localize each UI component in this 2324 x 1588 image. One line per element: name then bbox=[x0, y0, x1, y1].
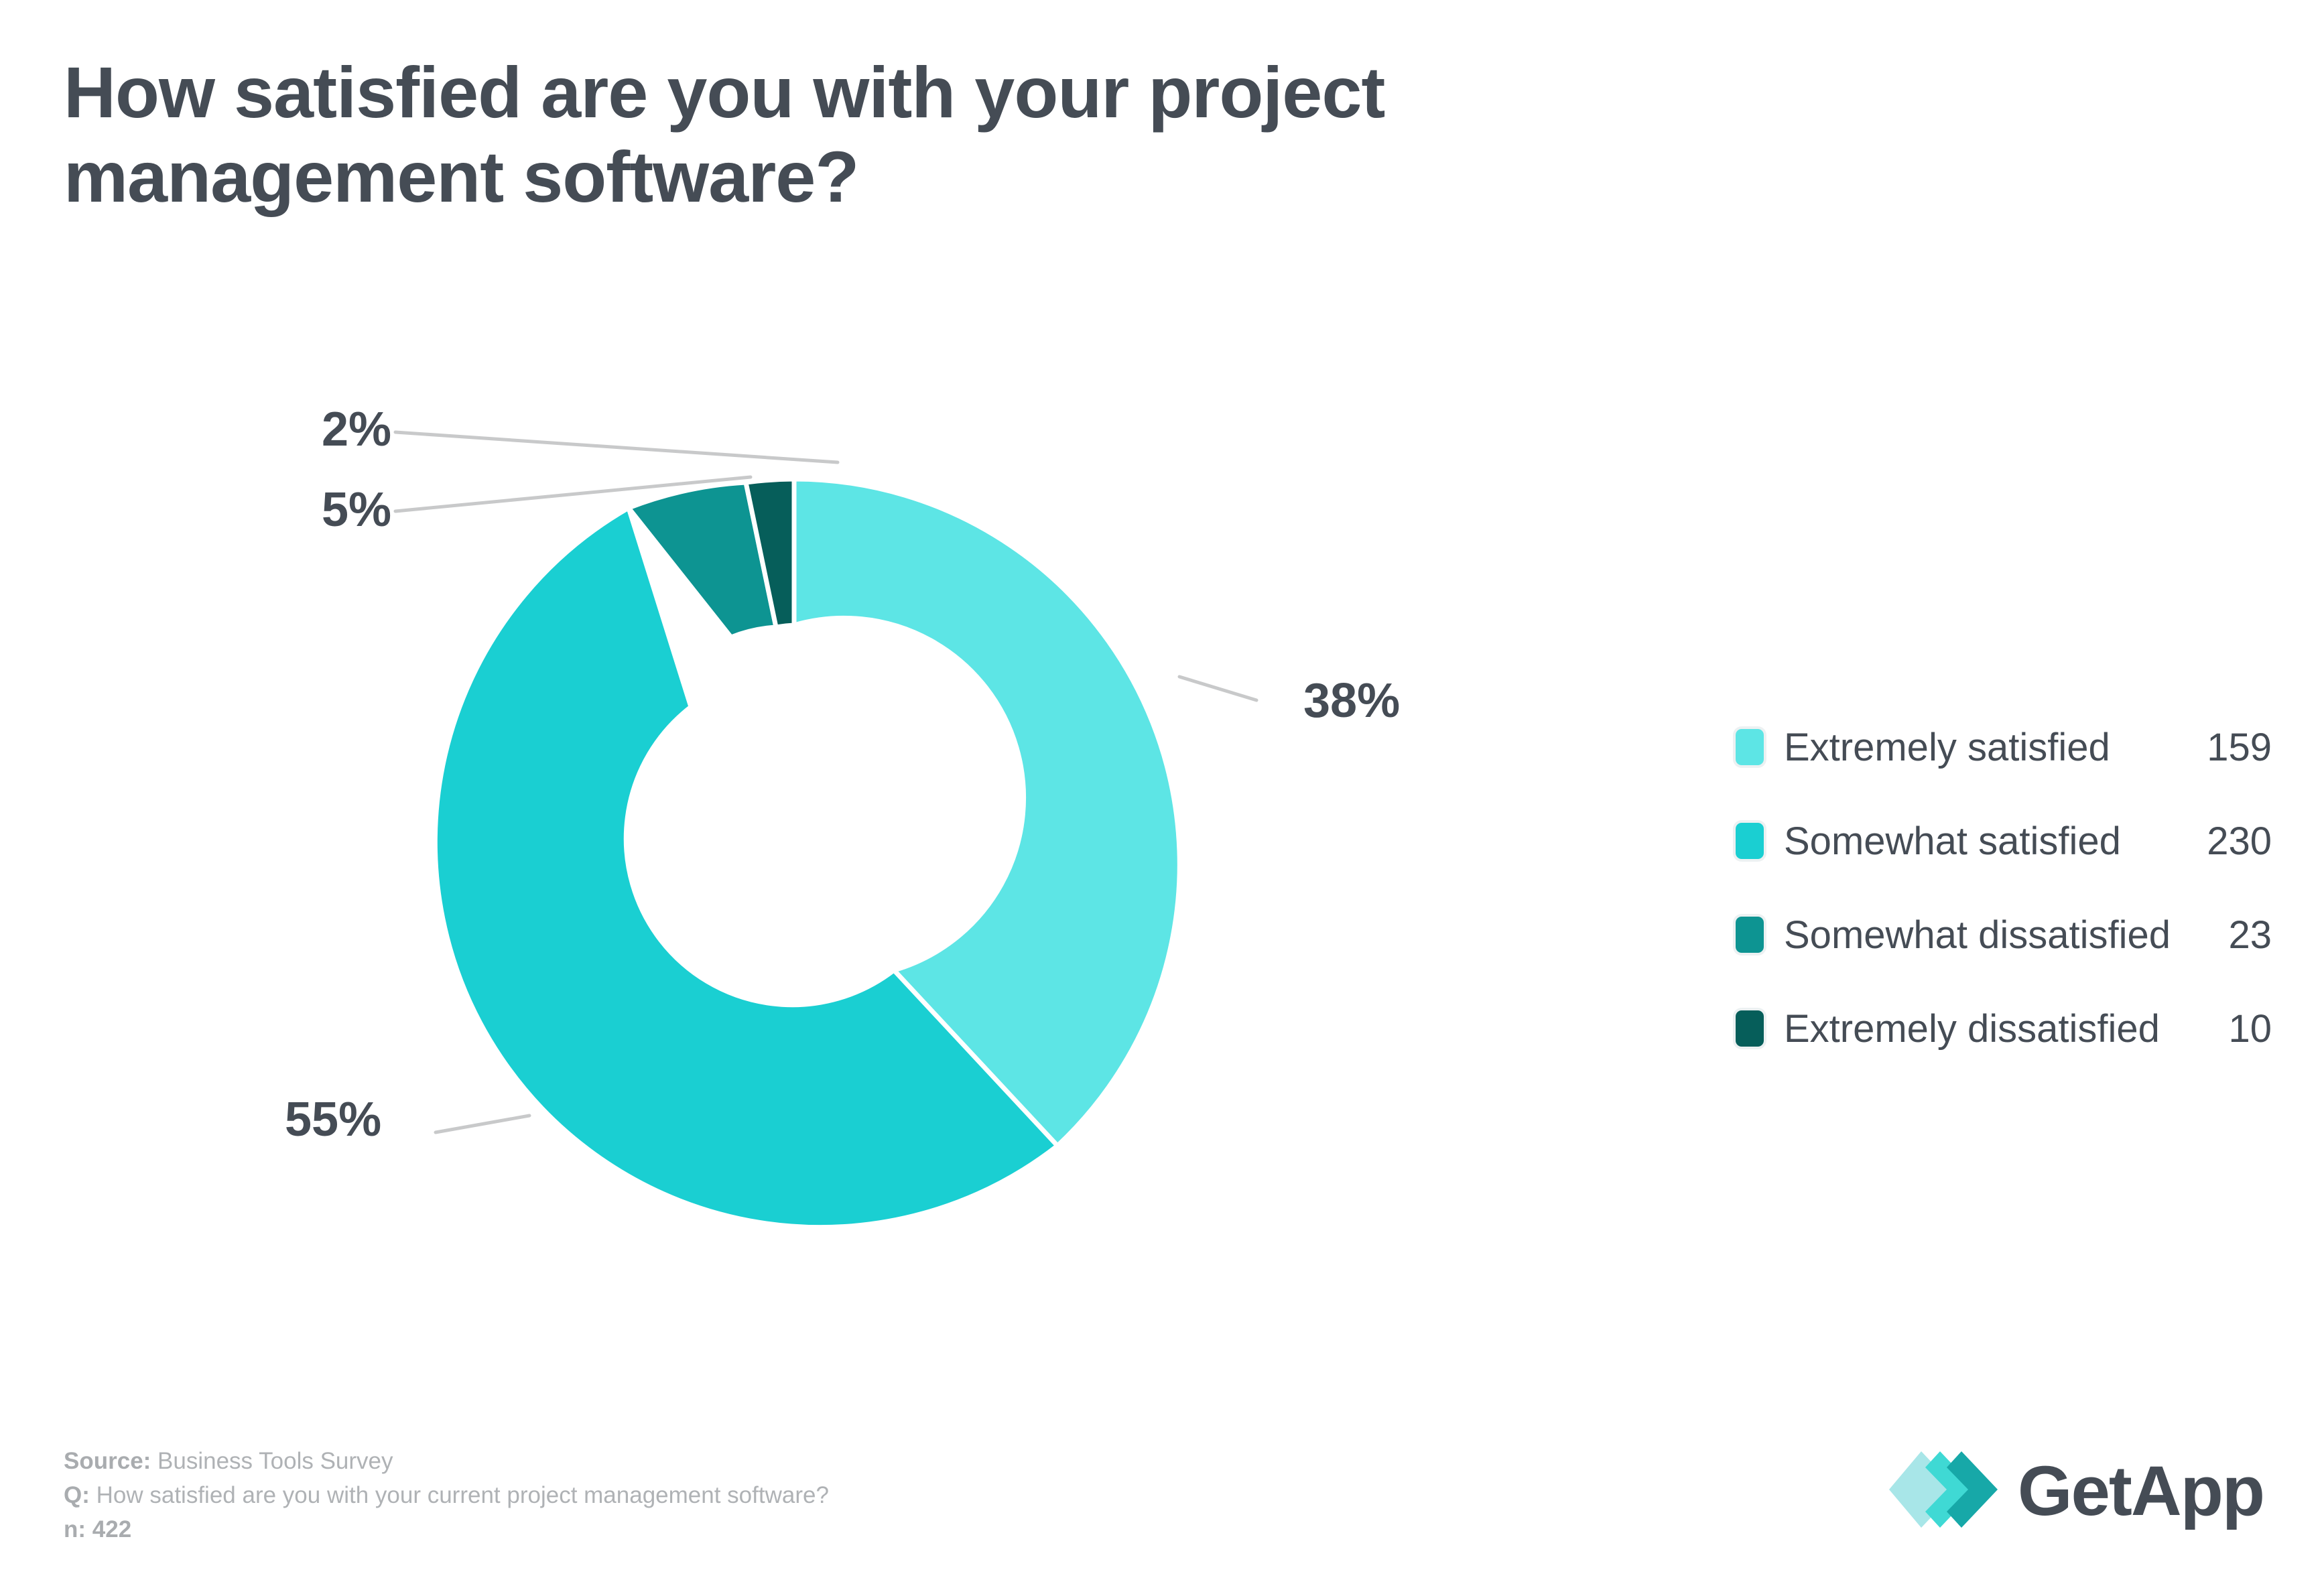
donut-segments bbox=[435, 479, 1179, 1228]
legend-value: 23 bbox=[2191, 913, 2272, 957]
footer-source-line: Source: Business Tools Survey bbox=[64, 1444, 829, 1478]
chart-legend: Extremely satisfied 159 Somewhat satisfi… bbox=[1736, 700, 2272, 1075]
footer-question-prefix: Q: bbox=[64, 1482, 90, 1508]
legend-swatch-icon bbox=[1736, 1010, 1764, 1047]
legend-item-somewhat-dissatisfied[interactable]: Somewhat dissatisfied 23 bbox=[1736, 888, 2272, 982]
getapp-chevron-icon bbox=[1886, 1447, 2007, 1534]
legend-item-extremely-dissatisfied[interactable]: Extremely dissatisfied 10 bbox=[1736, 982, 2272, 1075]
donut-chart: 2% 5% 38% 55% bbox=[0, 0, 1608, 1374]
legend-item-somewhat-satisfied[interactable]: Somewhat satisfied 230 bbox=[1736, 794, 2272, 888]
legend-label: Extremely satisfied bbox=[1784, 725, 2191, 770]
legend-value: 10 bbox=[2191, 1006, 2272, 1051]
legend-swatch-icon bbox=[1736, 917, 1764, 953]
legend-item-extremely-satisfied[interactable]: Extremely satisfied 159 bbox=[1736, 700, 2272, 794]
leader-line-2pct bbox=[395, 432, 838, 462]
footer-n-line: n: 422 bbox=[64, 1512, 829, 1546]
footer-source-prefix: Source: bbox=[64, 1448, 151, 1474]
leader-line-38pct bbox=[1179, 677, 1256, 700]
legend-label: Somewhat satisfied bbox=[1784, 819, 2191, 864]
chart-page: How satisfied are you with your project … bbox=[0, 0, 2324, 1588]
footer-source-text: Business Tools Survey bbox=[151, 1448, 393, 1474]
footer-question-text: How satisfied are you with your current … bbox=[90, 1482, 829, 1508]
getapp-wordmark: GetApp bbox=[2018, 1456, 2264, 1526]
legend-swatch-icon bbox=[1736, 729, 1764, 765]
footer-note: Source: Business Tools Survey Q: How sat… bbox=[64, 1444, 829, 1546]
pct-label-extremely-dissatisfied: 2% bbox=[322, 402, 391, 457]
pct-label-somewhat-dissatisfied: 5% bbox=[322, 482, 391, 537]
legend-value: 159 bbox=[2191, 725, 2272, 770]
legend-label: Extremely dissatisfied bbox=[1784, 1006, 2191, 1051]
pct-label-somewhat-satisfied: 55% bbox=[285, 1092, 381, 1147]
footer-n-prefix: n: bbox=[64, 1516, 86, 1542]
footer-n-value: 422 bbox=[86, 1516, 131, 1542]
pct-label-extremely-satisfied: 38% bbox=[1303, 673, 1400, 728]
getapp-logo: GetApp bbox=[1886, 1447, 2264, 1534]
legend-label: Somewhat dissatisfied bbox=[1784, 913, 2191, 957]
legend-swatch-icon bbox=[1736, 823, 1764, 859]
leader-line-55pct bbox=[436, 1116, 529, 1132]
legend-value: 230 bbox=[2191, 819, 2272, 864]
footer-question-line: Q: How satisfied are you with your curre… bbox=[64, 1478, 829, 1512]
